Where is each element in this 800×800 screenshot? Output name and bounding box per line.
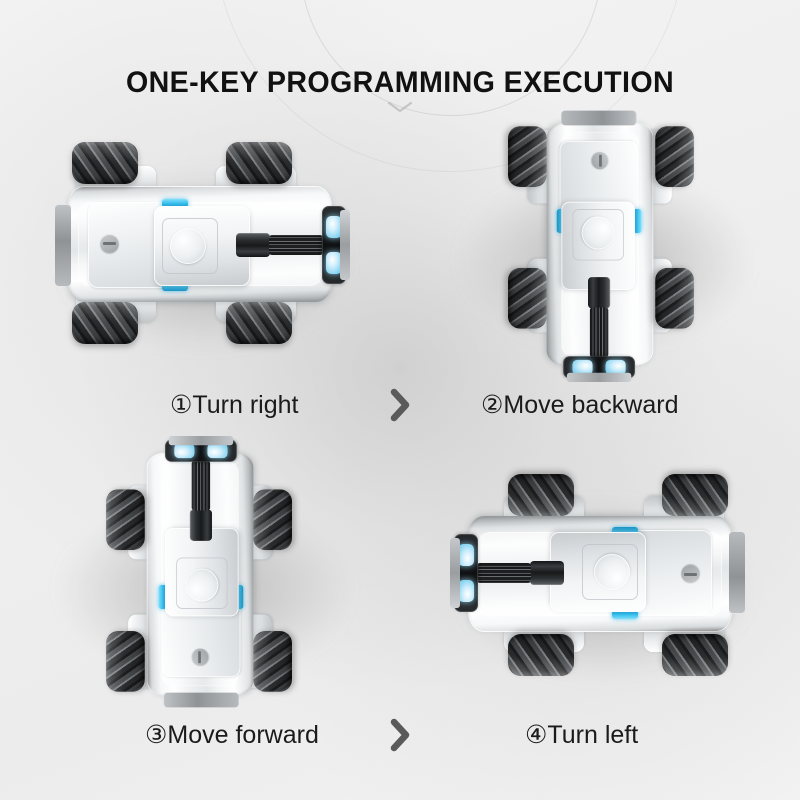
- step-label-4: ④Turn left: [525, 720, 638, 750]
- mecanum-wheel: [72, 142, 138, 184]
- step-label-2: ②Move backward: [481, 390, 679, 420]
- rear-bumper: [55, 204, 71, 286]
- caption-row-bottom: ③Move forward ④Turn left: [0, 715, 800, 755]
- gun-breech: [588, 277, 610, 308]
- front-nose-cap: [450, 538, 460, 608]
- front-nose-cap: [169, 436, 233, 445]
- page-title: ONE-KEY PROGRAMMING EXECUTION: [12, 66, 788, 100]
- mecanum-wheel: [253, 489, 292, 550]
- vehicle-body-2: [508, 106, 692, 382]
- gun-breech: [530, 561, 564, 585]
- gun-barrels: [477, 563, 531, 583]
- gun-breech: [236, 233, 270, 257]
- header: ONE-KEY PROGRAMMING EXECUTION: [0, 66, 800, 100]
- gun-barrels: [269, 235, 323, 255]
- mecanum-wheel: [226, 302, 292, 344]
- headlight-lamp: [458, 580, 474, 602]
- steps-grid: [0, 110, 800, 790]
- turret-block: [165, 528, 239, 616]
- gatling-gun: [476, 560, 564, 586]
- mecanum-wheel: [106, 489, 145, 550]
- front-nose-cap: [567, 373, 631, 382]
- mecanum-wheel: [655, 268, 694, 329]
- deck-screw-icon: [100, 234, 119, 253]
- mecanum-wheel: [508, 474, 574, 516]
- deck-screw-icon: [681, 565, 700, 584]
- step-label-1: ①Turn right: [170, 390, 298, 420]
- mecanum-wheel: [106, 631, 145, 692]
- vehicle-body-1: [50, 144, 350, 344]
- rear-bumper: [561, 111, 636, 126]
- mecanum-wheel: [508, 126, 547, 187]
- gatling-gun: [587, 277, 611, 358]
- gun-breech: [190, 510, 212, 541]
- mecanum-wheel: [253, 631, 292, 692]
- deck-screw-icon: [592, 152, 609, 169]
- step-label-3: ③Move forward: [145, 720, 319, 750]
- gatling-gun: [189, 460, 213, 541]
- chevron-right-icon: [365, 387, 435, 423]
- mecanum-wheel: [72, 302, 138, 344]
- headlight-lamp: [174, 443, 194, 458]
- mecanum-wheel: [226, 142, 292, 184]
- vehicle-body-3: [108, 436, 292, 712]
- mecanum-wheel: [662, 634, 728, 676]
- turret-hub: [170, 228, 206, 264]
- caption-row-top: ①Turn right ②Move backward: [0, 385, 800, 425]
- product-image-stage: ONE-KEY PROGRAMMING EXECUTION: [0, 0, 800, 800]
- turret-block: [550, 532, 646, 612]
- deck-screw-icon: [191, 649, 208, 666]
- gun-barrels: [590, 307, 608, 357]
- caption-slot-3: ③Move forward: [0, 720, 365, 750]
- vehicle-photo-2: [400, 110, 800, 378]
- turret-hub: [582, 216, 615, 249]
- headlight-lamp: [207, 443, 227, 458]
- vehicle-photo-1: [0, 110, 400, 378]
- mecanum-wheel: [662, 474, 728, 516]
- vehicle-photo-3: [0, 440, 400, 708]
- rear-bumper: [729, 532, 745, 614]
- rear-bumper: [163, 693, 238, 708]
- headlight-lamp: [458, 544, 474, 566]
- front-nose-cap: [340, 210, 350, 280]
- chevron-right-icon: [365, 717, 435, 753]
- mecanum-wheel: [655, 126, 694, 187]
- mecanum-wheel: [508, 268, 547, 329]
- caption-slot-2: ②Move backward: [435, 390, 800, 420]
- mecanum-wheel: [508, 634, 574, 676]
- turret-hub: [594, 554, 630, 590]
- vehicle-body-4: [450, 474, 750, 674]
- gun-barrels: [192, 461, 210, 511]
- caption-slot-4: ④Turn left: [435, 720, 800, 750]
- turret-hub: [185, 568, 218, 601]
- caption-slot-1: ①Turn right: [0, 390, 365, 420]
- gatling-gun: [236, 232, 324, 258]
- vehicle-photo-4: [400, 440, 800, 708]
